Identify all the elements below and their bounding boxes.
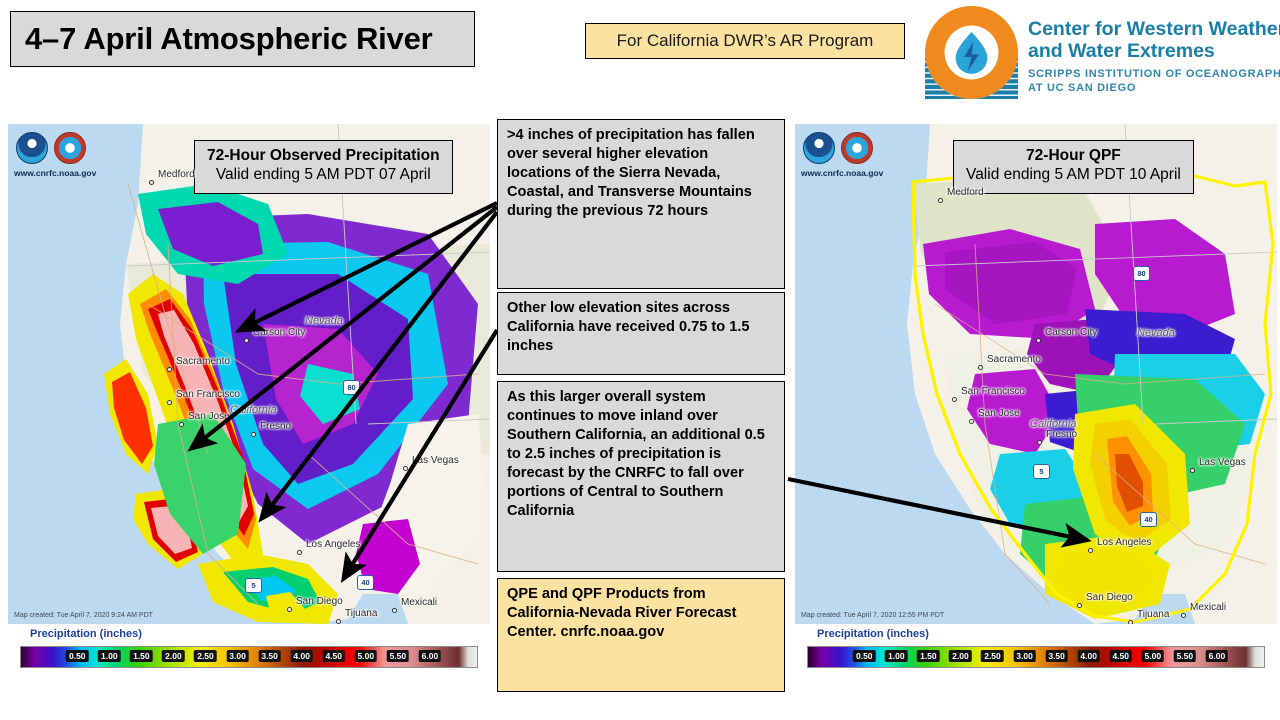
colorbar-tick: 1.50: [917, 650, 940, 662]
noaa-cnrfc-logos: www.cnrfc.noaa.gov: [801, 132, 921, 180]
colorbar-tick: 3.50: [258, 650, 281, 662]
colorbar-tick: 1.00: [98, 650, 121, 662]
colorbar-tick: 2.50: [981, 650, 1004, 662]
right-colorbar: Precipitation (inches) 0.501.001.502.002…: [795, 626, 1277, 678]
colorbar-tick: 5.00: [355, 650, 378, 662]
colorbar-tick: 4.50: [1109, 650, 1132, 662]
callout-text: >4 inches of precipitation has fallen ov…: [507, 126, 775, 221]
colorbar-tick: 5.00: [1142, 650, 1165, 662]
cnrfc-url-right: www.cnrfc.noaa.gov: [801, 168, 883, 178]
slide-canvas: 4–7 April Atmospheric River For Californ…: [0, 0, 1280, 720]
qpf-raster: [795, 124, 1277, 624]
right-map-subtitle: Valid ending 5 AM PDT 10 April: [966, 165, 1181, 185]
observed-precipitation-map[interactable]: www.cnrfc.noaa.gov 72-Hour Observed Prec…: [8, 124, 490, 624]
left-colorbar-title: Precipitation (inches): [30, 628, 142, 640]
noaa-cnrfc-logos: www.cnrfc.noaa.gov: [14, 132, 134, 180]
callout-forecast-socal: As this larger overall system continues …: [497, 381, 785, 572]
colorbar-tick: 6.00: [1206, 650, 1229, 662]
interstate-shield-icon: 40: [357, 575, 374, 590]
program-note-text: For California DWR’s AR Program: [617, 31, 874, 51]
left-map-subtitle: Valid ending 5 AM PDT 07 April: [207, 165, 440, 185]
interstate-shield-icon: 40: [1140, 512, 1157, 527]
interstate-shield-icon: 5: [245, 578, 262, 593]
logo-line-2: and Water Extremes: [1028, 40, 1280, 62]
right-colorbar-title: Precipitation (inches): [817, 628, 929, 640]
callout-text: QPE and QPF Products from California-Nev…: [507, 585, 775, 642]
left-map-created-stamp: Map created: Tue April 7, 2020 9:24 AM P…: [14, 612, 153, 619]
callout-low-elevation: Other low elevation sites across Califor…: [497, 292, 785, 375]
callout-observed-high-elevation: >4 inches of precipitation has fallen ov…: [497, 119, 785, 289]
qpe-raster: [8, 124, 490, 624]
slide-title: 4–7 April Atmospheric River: [10, 11, 475, 67]
colorbar-tick: 0.50: [853, 650, 876, 662]
colorbar-tick: 1.50: [130, 650, 153, 662]
nws-logo-icon: [54, 132, 86, 164]
callout-source-credit: QPE and QPF Products from California-Nev…: [497, 578, 785, 692]
right-map-title: 72-Hour QPF: [966, 146, 1181, 165]
left-map-title: 72-Hour Observed Precipitation: [207, 146, 440, 165]
colorbar-tick: 6.00: [419, 650, 442, 662]
callout-text: Other low elevation sites across Califor…: [507, 299, 775, 356]
qpf-forecast-map[interactable]: www.cnrfc.noaa.gov 72-Hour QPF Valid end…: [795, 124, 1277, 624]
colorbar-tick: 2.00: [949, 650, 972, 662]
right-map-title-box: 72-Hour QPF Valid ending 5 AM PDT 10 Apr…: [953, 140, 1194, 194]
right-map-created-stamp: Map created: Tue April 7, 2020 12:55 PM …: [801, 612, 944, 619]
colorbar-tick: 4.00: [290, 650, 313, 662]
logo-sub-2: AT UC SAN DIEGO: [1028, 81, 1280, 95]
cw3e-logo-text: Center for Western Weather and Water Ext…: [1028, 18, 1280, 96]
logo-line-1: Center for Western Weather: [1028, 18, 1280, 40]
cnrfc-url-left: www.cnrfc.noaa.gov: [14, 168, 96, 178]
interstate-shield-icon: 80: [343, 380, 360, 395]
program-note-box: For California DWR’s AR Program: [585, 23, 905, 59]
colorbar-tick: 2.50: [194, 650, 217, 662]
logo-sub-1: SCRIPPS INSTITUTION OF OCEANOGRAPHY: [1028, 67, 1280, 81]
left-colorbar-ticks: 0.501.001.502.002.503.003.504.004.505.00…: [20, 646, 478, 668]
colorbar-tick: 0.50: [66, 650, 89, 662]
colorbar-tick: 2.00: [162, 650, 185, 662]
interstate-shield-icon: 80: [1133, 266, 1150, 281]
colorbar-tick: 3.00: [226, 650, 249, 662]
noaa-logo-icon: [16, 132, 48, 164]
noaa-logo-icon: [803, 132, 835, 164]
slide-title-text: 4–7 April Atmospheric River: [25, 21, 433, 57]
left-colorbar: Precipitation (inches) 0.501.001.502.002…: [8, 626, 490, 678]
interstate-shield-icon: 5: [1033, 464, 1050, 479]
colorbar-tick: 3.50: [1045, 650, 1068, 662]
colorbar-tick: 5.50: [1174, 650, 1197, 662]
cw3e-logo: Center for Western Weather and Water Ext…: [925, 6, 1275, 104]
left-map-title-box: 72-Hour Observed Precipitation Valid end…: [194, 140, 453, 194]
colorbar-tick: 4.50: [322, 650, 345, 662]
cw3e-logo-mark: [925, 6, 1018, 99]
colorbar-tick: 5.50: [387, 650, 410, 662]
colorbar-tick: 4.00: [1077, 650, 1100, 662]
colorbar-tick: 1.00: [885, 650, 908, 662]
colorbar-tick: 3.00: [1013, 650, 1036, 662]
right-colorbar-ticks: 0.501.001.502.002.503.003.504.004.505.00…: [807, 646, 1265, 668]
nws-logo-icon: [841, 132, 873, 164]
callout-text: As this larger overall system continues …: [507, 388, 775, 521]
